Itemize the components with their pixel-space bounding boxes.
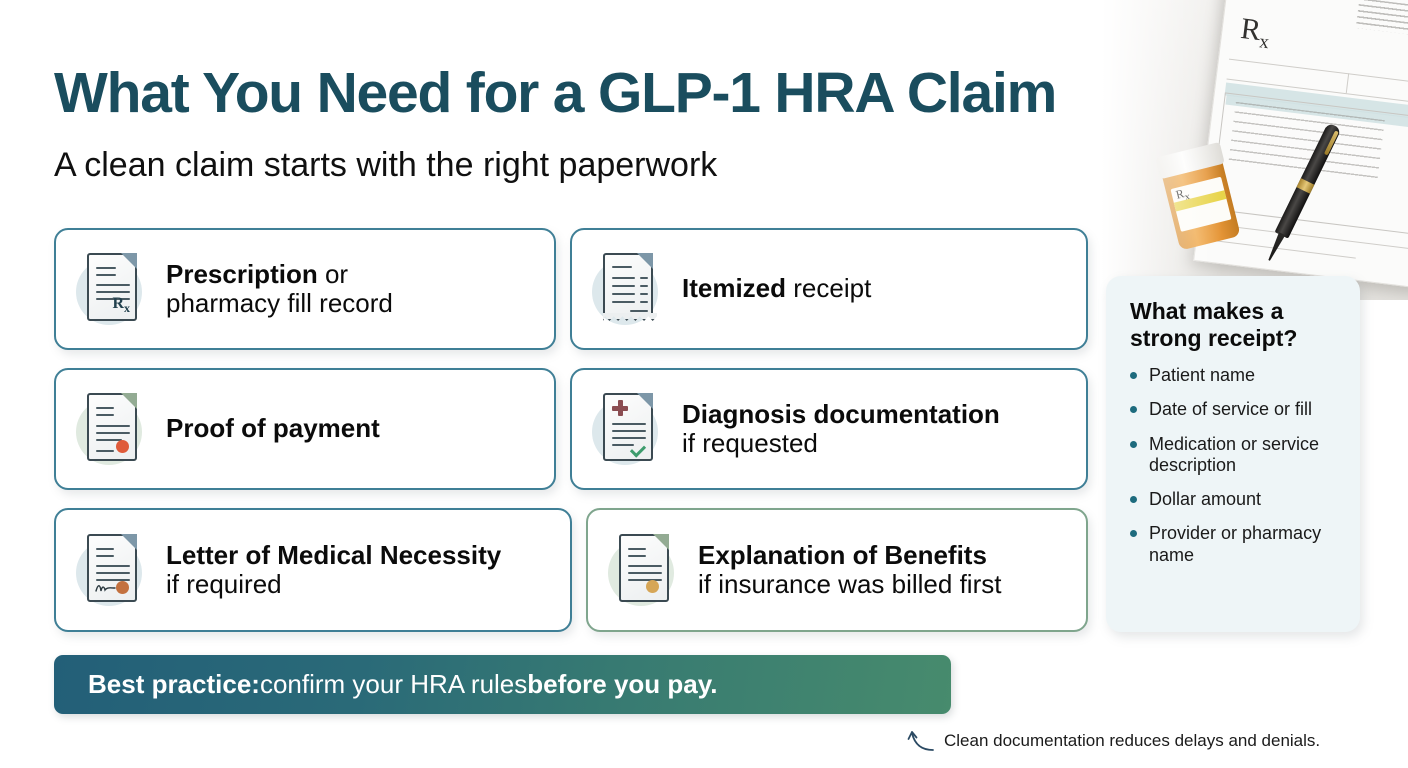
list-item: Dollar amount <box>1130 489 1342 510</box>
list-item: Patient name <box>1130 365 1342 386</box>
strong-receipt-panel: What makes a strong receipt? Patient nam… <box>1106 276 1360 632</box>
card-diagnosis-documentation[interactable]: Diagnosis documentation if requested <box>570 368 1088 490</box>
card-subtitle: if required <box>166 570 501 599</box>
card-subtitle: pharmacy fill record <box>166 289 393 318</box>
card-title: Itemized <box>682 273 786 303</box>
card-title-suffix: or <box>318 259 348 289</box>
card-title: Letter of Medical Necessity <box>166 540 501 570</box>
curved-arrow-up-left-icon <box>905 728 935 754</box>
banner-middle: confirm your HRA rules <box>260 669 527 700</box>
card-title: Proof of payment <box>166 413 380 443</box>
prescription-form-image: Rx <box>1193 0 1408 289</box>
rx-symbol-photo: Rx <box>1238 12 1272 54</box>
explanation-of-benefits-icon <box>602 528 686 612</box>
panel-list: Patient name Date of service or fill Med… <box>1130 365 1342 566</box>
form-header-lines <box>1356 0 1408 39</box>
card-title-suffix: receipt <box>786 273 871 303</box>
best-practice-banner: Best practice: confirm your HRA rules be… <box>54 655 951 714</box>
card-title: Prescription <box>166 259 318 289</box>
card-proof-of-payment[interactable]: Proof of payment <box>54 368 556 490</box>
page-title: What You Need for a GLP-1 HRA Claim <box>54 60 1056 126</box>
list-item: Medication or service description <box>1130 434 1342 476</box>
banner-tail: before you pay. <box>527 669 717 700</box>
card-subtitle: if insurance was billed first <box>698 570 1001 599</box>
card-explanation-of-benefits[interactable]: Explanation of Benefits if insurance was… <box>586 508 1088 632</box>
card-itemized-receipt[interactable]: Itemized receipt <box>570 228 1088 350</box>
hero-photo: Rx Rx <box>1098 0 1408 300</box>
card-prescription[interactable]: Rx Prescription or pharmacy fill record <box>54 228 556 350</box>
card-letter-of-medical-necessity[interactable]: Letter of Medical Necessity if required <box>54 508 572 632</box>
diagnosis-document-icon <box>586 387 670 471</box>
proof-of-payment-document-icon <box>70 387 154 471</box>
page-subtitle: A clean claim starts with the right pape… <box>54 146 717 185</box>
panel-heading: What makes a strong receipt? <box>1130 298 1342 352</box>
pill-bottle-image: Rx <box>1157 141 1244 250</box>
footer-caption: Clean documentation reduces delays and d… <box>944 731 1320 751</box>
list-item: Date of service or fill <box>1130 399 1342 420</box>
card-title: Diagnosis documentation <box>682 399 1000 429</box>
list-item: Provider or pharmacy name <box>1130 523 1342 565</box>
banner-lead: Best practice: <box>88 669 260 700</box>
prescription-document-icon: Rx <box>70 247 154 331</box>
signature-icon <box>95 583 117 593</box>
itemized-receipt-icon <box>586 247 670 331</box>
card-subtitle: if requested <box>682 429 1000 458</box>
footer-note: Clean documentation reduces delays and d… <box>905 728 1320 754</box>
pen-image <box>1261 122 1341 265</box>
card-title: Explanation of Benefits <box>698 540 987 570</box>
medical-cross-icon <box>612 400 628 416</box>
letter-of-medical-necessity-icon <box>70 528 154 612</box>
